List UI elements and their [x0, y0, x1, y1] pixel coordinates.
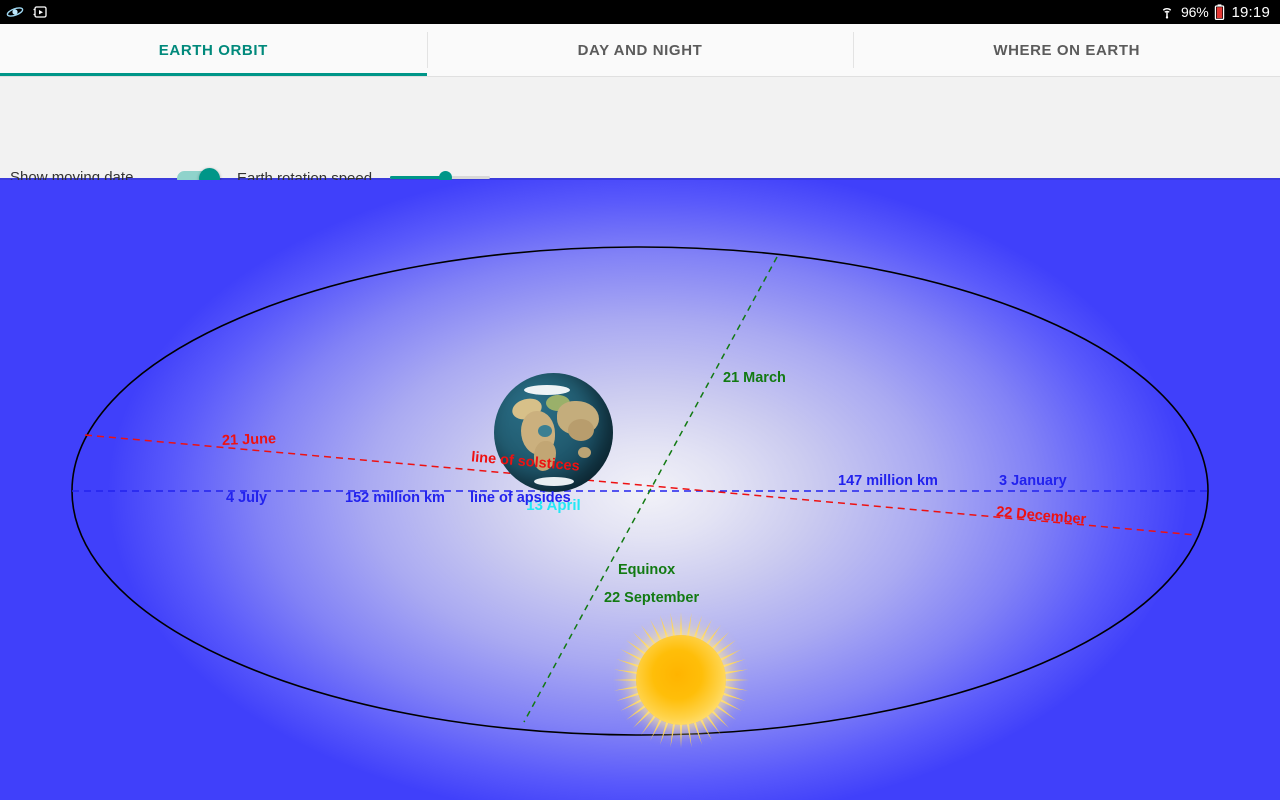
tab-where-on-earth-label: WHERE ON EARTH	[993, 42, 1140, 59]
status-bar-left-icons	[0, 4, 48, 20]
label-june-solstice: 21 June	[222, 431, 277, 449]
sun[interactable]	[611, 610, 751, 750]
wifi-icon	[1159, 5, 1175, 19]
label-aphelion-date: 4 July	[226, 490, 267, 506]
status-bar: 96% 19:19	[0, 0, 1280, 24]
battery-low-icon	[1214, 4, 1225, 20]
earth-globe[interactable]: 13 April	[494, 373, 613, 492]
planet-orbit-icon	[6, 5, 24, 19]
label-equinox: Equinox	[618, 562, 675, 578]
controls-panel: Show moving date Earth rotation speed Ea…	[0, 77, 1280, 180]
tab-day-and-night[interactable]: DAY AND NIGHT	[427, 24, 854, 76]
screenshot-icon	[32, 4, 48, 20]
tab-earth-orbit[interactable]: EARTH ORBIT	[0, 24, 427, 76]
label-aphelion-distance: 152 million km	[345, 490, 445, 506]
earth-sphere	[494, 373, 613, 492]
status-bar-right-icons: 96% 19:19	[1159, 4, 1280, 21]
label-line-of-apsides: line of apsides	[470, 490, 571, 506]
tab-bar: EARTH ORBIT DAY AND NIGHT WHERE ON EARTH	[0, 24, 1280, 77]
slider-fill	[390, 176, 445, 179]
earth-orbit-diagram[interactable]: 13 April 21 June line of solstices 22 De…	[0, 180, 1280, 800]
label-perihelion-date: 3 January	[999, 473, 1067, 489]
label-march-equinox: 21 March	[723, 370, 786, 386]
tab-day-and-night-label: DAY AND NIGHT	[578, 42, 703, 59]
clock-label: 19:19	[1231, 4, 1270, 21]
tab-where-on-earth[interactable]: WHERE ON EARTH	[853, 24, 1280, 76]
sun-core	[636, 635, 726, 725]
label-perihelion-distance: 147 million km	[838, 473, 938, 489]
battery-percent-label: 96%	[1181, 4, 1208, 20]
tab-earth-orbit-label: EARTH ORBIT	[159, 42, 268, 59]
label-september-equinox: 22 September	[604, 590, 699, 606]
